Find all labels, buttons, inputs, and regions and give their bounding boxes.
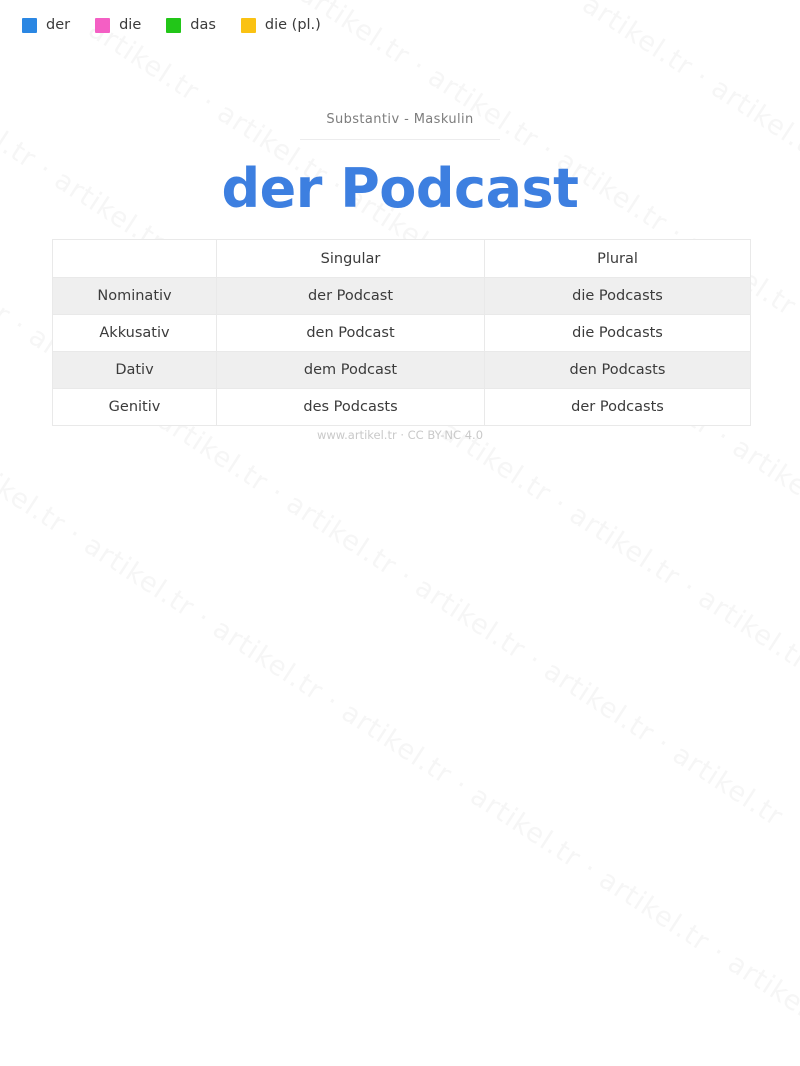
cell-case: Dativ [53, 352, 217, 389]
table-body: Nominativder Podcastdie PodcastsAkkusati… [53, 278, 751, 426]
cell-case: Akkusativ [53, 315, 217, 352]
cell-case: Nominativ [53, 278, 217, 315]
legend-item-label: der [46, 18, 70, 33]
legend-item-label: das [190, 18, 216, 33]
cell-singular: dem Podcast [217, 352, 485, 389]
legend-item-label: die [119, 18, 141, 33]
legend-item-label: die (pl.) [265, 18, 321, 33]
cell-singular: der Podcast [217, 278, 485, 315]
cell-singular: des Podcasts [217, 389, 485, 426]
cell-plural: die Podcasts [485, 278, 751, 315]
word-type-subtitle: Substantiv - Maskulin [0, 112, 800, 139]
page-title: der Podcast [0, 160, 800, 218]
subtitle-divider [300, 139, 500, 140]
cell-case: Genitiv [53, 389, 217, 426]
page-content: derdiedasdie (pl.) Substantiv - Maskulin… [0, 0, 800, 533]
legend-item-das[interactable]: das [166, 18, 216, 33]
article-color-legend: derdiedasdie (pl.) [22, 18, 346, 33]
legend-item-die[interactable]: die [95, 18, 141, 33]
color-swatch-icon [95, 18, 110, 33]
table-row: Nominativder Podcastdie Podcasts [53, 278, 751, 315]
table-row: Genitivdes Podcastsder Podcasts [53, 389, 751, 426]
column-header-plural: Plural [485, 240, 751, 278]
cell-plural: der Podcasts [485, 389, 751, 426]
table-row: Dativdem Podcastden Podcasts [53, 352, 751, 389]
cell-singular: den Podcast [217, 315, 485, 352]
column-header-singular: Singular [217, 240, 485, 278]
color-swatch-icon [166, 18, 181, 33]
table-header-row: Singular Plural [53, 240, 751, 278]
color-swatch-icon [22, 18, 37, 33]
footer-credit: www.artikel.tr · CC BY-NC 4.0 [0, 428, 800, 442]
legend-item-diepl[interactable]: die (pl.) [241, 18, 321, 33]
cell-plural: die Podcasts [485, 315, 751, 352]
headline-block: Substantiv - Maskulin der Podcast [0, 112, 800, 218]
table-header: Singular Plural [53, 240, 751, 278]
table-row: Akkusativden Podcastdie Podcasts [53, 315, 751, 352]
declension-table: Singular Plural Nominativder Podcastdie … [52, 239, 751, 426]
cell-plural: den Podcasts [485, 352, 751, 389]
legend-item-der[interactable]: der [22, 18, 70, 33]
column-header-case [53, 240, 217, 278]
color-swatch-icon [241, 18, 256, 33]
